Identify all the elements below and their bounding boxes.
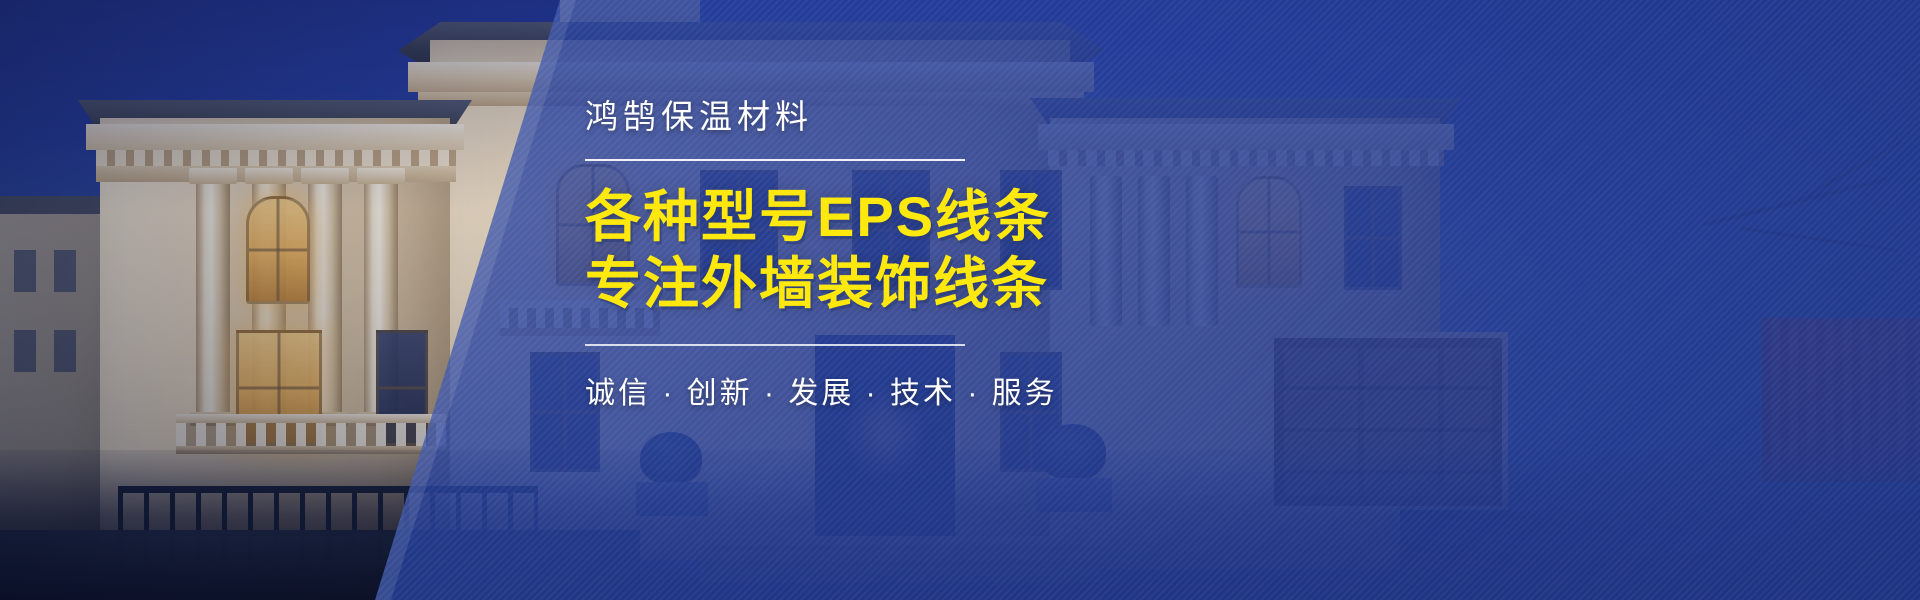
- promo-banner: 鸿鹄保温材料 各种型号EPS线条 专注外墙装饰线条 诚信 · 创新 · 发展 ·…: [0, 0, 1920, 600]
- banner-content: 鸿鹄保温材料 各种型号EPS线条 专注外墙装饰线条 诚信 · 创新 · 发展 ·…: [585, 96, 1285, 412]
- headline-line-2: 专注外墙装饰线条: [585, 250, 1285, 317]
- divider-bottom: [585, 344, 965, 346]
- tagline: 诚信 · 创新 · 发展 · 技术 · 服务: [585, 368, 1285, 412]
- headline-line-1: 各种型号EPS线条: [585, 183, 1285, 250]
- divider-top: [585, 159, 965, 161]
- brand-name: 鸿鹄保温材料: [585, 96, 1285, 137]
- headline: 各种型号EPS线条 专注外墙装饰线条: [585, 183, 1285, 317]
